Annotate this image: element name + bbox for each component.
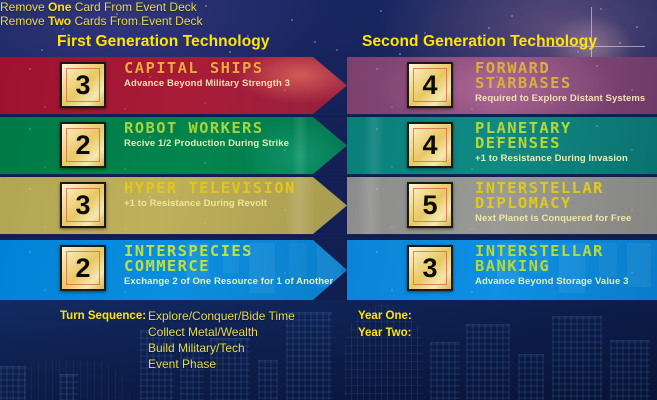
turn-step-4: Event Phase [148, 357, 216, 371]
year-two-label: Year Two: [358, 327, 411, 339]
year-one-prefix: Remove [0, 0, 48, 14]
cost-tile: 4 [407, 122, 453, 168]
year-two-suffix: Cards From Event Deck [71, 14, 202, 28]
tech-card-hyper-television[interactable]: 3 HYPER TELEVISION +1 to Resistance Duri… [0, 177, 347, 234]
turn-step-3: Build Military/Tech [148, 341, 245, 355]
tech-subtitle: Next Planet is Conquered for Free [475, 213, 651, 224]
cost-tile: 3 [407, 245, 453, 291]
cost-tile: 5 [407, 182, 453, 228]
tech-subtitle: +1 to Resistance During Revolt [124, 198, 341, 209]
tech-subtitle: Exchange 2 of One Resource for 1 of Anot… [124, 276, 341, 287]
tech-title: ROBOT WORKERS [124, 121, 341, 136]
building [286, 312, 332, 400]
tech-subtitle: +1 to Resistance During Invasion [475, 153, 651, 164]
cost-tile: 2 [60, 245, 106, 291]
card-text: PLANETARY DEFENSES +1 to Resistance Duri… [475, 121, 651, 164]
tech-subtitle: Required to Explore Distant Systems [475, 93, 651, 104]
turn-step-1: Explore/Conquer/Bide Time [148, 309, 295, 323]
building [60, 374, 78, 400]
tech-title: PLANETARY DEFENSES [475, 121, 651, 151]
cost-value: 3 [422, 255, 437, 282]
year-two-prefix: Remove [0, 14, 48, 28]
tech-card-robot-workers[interactable]: 2 ROBOT WORKERS Recive 1/2 Production Du… [0, 117, 347, 174]
turn-step-2: Collect Metal/Wealth [148, 325, 258, 339]
tech-card-forward-starbases[interactable]: 4 FORWARD STARBASES Required to Explore … [347, 57, 657, 114]
tech-card-interstellar-diplomacy[interactable]: 5 INTERSTELLAR DIPLOMACY Next Planet is … [347, 177, 657, 234]
year-one-suffix: Card From Event Deck [71, 0, 196, 14]
tech-title: INTERSTELLAR BANKING [475, 244, 651, 274]
cost-value: 2 [75, 132, 90, 159]
cost-value: 4 [422, 72, 437, 99]
card-text: INTERSPECIES COMMERCE Exchange 2 of One … [124, 244, 341, 287]
first-generation-header: First Generation Technology [57, 33, 270, 51]
card-text: ROBOT WORKERS Recive 1/2 Production Duri… [124, 121, 341, 149]
building [552, 316, 602, 400]
year-two-emphasis: Two [48, 14, 71, 28]
second-generation-header: Second Generation Technology [362, 33, 597, 51]
tech-card-interstellar-banking[interactable]: 3 INTERSTELLAR BANKING Advance Beyond St… [347, 240, 657, 300]
cost-value: 5 [422, 192, 437, 219]
building [610, 340, 650, 400]
tech-card-capital-ships[interactable]: 3 CAPITAL SHIPS Advance Beyond Military … [0, 57, 347, 114]
row-separator [0, 234, 657, 237]
card-text: HYPER TELEVISION +1 to Resistance During… [124, 181, 341, 209]
card-text: INTERSTELLAR DIPLOMACY Next Planet is Co… [475, 181, 651, 224]
tower-silhouette [365, 117, 383, 174]
tower-silhouette [359, 177, 381, 234]
year-one-label: Year One: [358, 310, 412, 322]
cost-value: 3 [75, 72, 90, 99]
building [518, 354, 544, 400]
cost-tile: 4 [407, 62, 453, 108]
cost-value: 4 [422, 132, 437, 159]
building [430, 342, 460, 400]
tech-card-planetary-defenses[interactable]: 4 PLANETARY DEFENSES +1 to Resistance Du… [347, 117, 657, 174]
tech-subtitle: Advance Beyond Storage Value 3 [475, 276, 651, 287]
tech-subtitle: Recive 1/2 Production During Strike [124, 138, 341, 149]
cost-tile: 2 [60, 122, 106, 168]
tech-title: INTERSTELLAR DIPLOMACY [475, 181, 651, 211]
tech-card-interspecies-commerce[interactable]: 2 INTERSPECIES COMMERCE Exchange 2 of On… [0, 240, 347, 300]
cost-value: 2 [75, 255, 90, 282]
game-reference-board: First Generation Technology Second Gener… [0, 0, 657, 400]
cost-tile: 3 [60, 62, 106, 108]
tech-title: FORWARD STARBASES [475, 61, 651, 91]
building [466, 324, 510, 400]
building [0, 366, 26, 400]
dome-building [10, 360, 130, 400]
cost-tile: 3 [60, 182, 106, 228]
card-text: INTERSTELLAR BANKING Advance Beyond Stor… [475, 244, 651, 287]
year-one-emphasis: One [48, 0, 71, 14]
turn-sequence-label: Turn Sequence: [60, 310, 146, 322]
building [258, 360, 278, 400]
card-text: FORWARD STARBASES Required to Explore Di… [475, 61, 651, 104]
card-text: CAPITAL SHIPS Advance Beyond Military St… [124, 61, 341, 89]
tech-subtitle: Advance Beyond Military Strength 3 [124, 78, 341, 89]
cost-value: 3 [75, 192, 90, 219]
tech-title: CAPITAL SHIPS [124, 61, 341, 76]
tech-title: INTERSPECIES COMMERCE [124, 244, 341, 274]
tech-title: HYPER TELEVISION [124, 181, 341, 196]
